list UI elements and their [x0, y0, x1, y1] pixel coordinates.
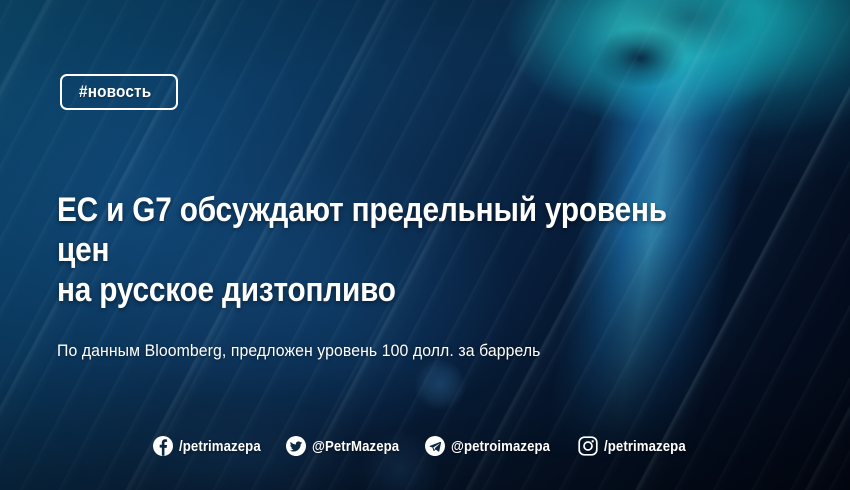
- social-link-facebook[interactable]: /petrimazepa: [153, 436, 272, 456]
- instagram-icon: [578, 436, 598, 456]
- category-tag-label: #новость: [79, 82, 151, 102]
- facebook-icon: [153, 436, 173, 456]
- twitter-icon: [286, 436, 306, 456]
- card-content: #новость ЕС и G7 обсуждают предельный ур…: [0, 0, 850, 490]
- twitter-handle: @PetrMazepa: [312, 438, 399, 455]
- telegram-icon: [425, 436, 445, 456]
- social-link-telegram[interactable]: @petroimazepa: [425, 436, 564, 456]
- headline-text: ЕС и G7 обсуждают предельный уровень цен…: [57, 190, 670, 310]
- category-tag-badge[interactable]: #новость: [60, 74, 178, 110]
- facebook-handle: /petrimazepa: [179, 438, 261, 455]
- subtitle-text: По данным Bloomberg, предложен уровень 1…: [57, 341, 541, 361]
- news-card: #новость ЕС и G7 обсуждают предельный ур…: [0, 0, 850, 490]
- social-link-twitter[interactable]: @PetrMazepa: [286, 436, 411, 456]
- social-links-bar: /petrimazepa @PetrMazepa @petroimazepa: [0, 436, 850, 456]
- telegram-handle: @petroimazepa: [451, 438, 550, 455]
- instagram-handle: /petrimazepa: [604, 438, 686, 455]
- social-link-instagram[interactable]: /petrimazepa: [578, 436, 697, 456]
